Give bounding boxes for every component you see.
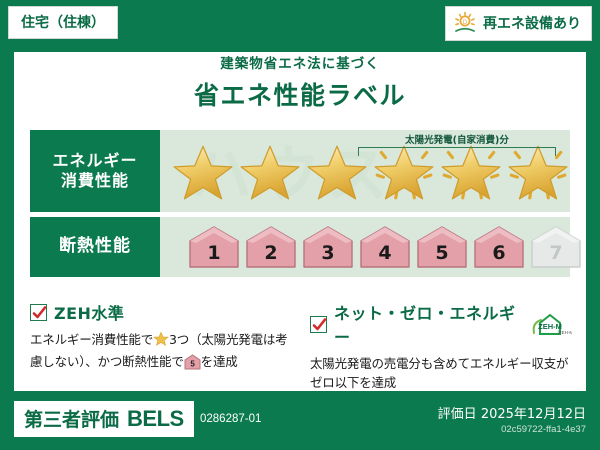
insulation-level-3: 3: [302, 225, 354, 269]
evaluation-hash: 02c59722-ffa1-4e37: [501, 424, 586, 435]
insulation-level-number: 5: [416, 242, 468, 264]
bels-jp-label: 第三者評価: [24, 405, 119, 432]
energy-performance-body: ハウス 太陽光発電(自家消費)分: [160, 130, 570, 212]
insulation-level-number: 3: [302, 242, 354, 264]
net-zero-title: ネット・ゼロ・エネルギー: [334, 300, 521, 348]
insulation-level-number: 4: [359, 242, 411, 264]
insulation-level-7: 7: [530, 225, 582, 269]
zeh-standard-section: ZEH水準 エネルギー消費性能で3つ（太陽光発電は考慮しない）、かつ断熱性能で5…: [30, 300, 292, 393]
insulation-level-6: 6: [473, 225, 525, 269]
zeh-standard-description: エネルギー消費性能で3つ（太陽光発電は考慮しない）、かつ断熱性能で5を達成: [30, 330, 292, 376]
star-icon: [170, 140, 235, 202]
net-zero-description: 太陽光発電の売電分も含めてエネルギー収支がゼロ以下を達成: [310, 354, 572, 393]
star-icon: [237, 140, 302, 202]
bels-logo-box: 第三者評価 BELS: [14, 401, 194, 437]
energy-label-line1: エネルギー: [52, 151, 137, 171]
bels-certificate-number: 0286287-01: [200, 413, 261, 425]
insulation-level-number: 1: [188, 242, 240, 264]
page-title: 省エネ性能ラベル: [0, 76, 600, 112]
insulation-level-number: 7: [530, 242, 582, 264]
insulation-level-5: 5: [416, 225, 468, 269]
zeh-standard-title: ZEH水準: [54, 300, 124, 324]
energy-performance-row: エネルギー 消費性能 ハウス 太陽光発電(自家消費)分: [30, 130, 570, 212]
zeh-standard-checkbox[interactable]: [30, 304, 47, 321]
zeh-standard-head: ZEH水準: [30, 300, 292, 324]
net-zero-energy-section: ネット・ゼロ・エネルギー ZEH-M [ZEH-M] 太陽光発電の売電分も含めて…: [310, 300, 572, 393]
title-block: 建築物省エネ法に基づく 省エネ性能ラベル: [0, 52, 600, 112]
insulation-performance-body: 1234567: [160, 217, 570, 277]
title-subtitle: 建築物省エネ法に基づく: [0, 52, 600, 72]
solar-bracket: 太陽光発電(自家消費)分: [350, 132, 564, 156]
energy-label-root: 住宅（住棟） D 再エネ設備あり 建築物省エネ法に基づく: [0, 0, 600, 450]
star-icon: [153, 331, 169, 352]
insulation-performance-label: 断熱性能: [30, 217, 160, 277]
zeh-m-logo: ZEH-M [ZEH-M]: [530, 311, 572, 337]
evaluation-date: 評価日 2025年12月12日: [438, 403, 586, 422]
zeh-desc-pre: エネルギー消費性能で: [30, 332, 153, 347]
svg-text:[ZEH-M]: [ZEH-M]: [558, 330, 572, 335]
ratings-block: エネルギー 消費性能 ハウス 太陽光発電(自家消費)分 断熱性能 1234567: [30, 130, 570, 277]
criteria-block: ZEH水準 エネルギー消費性能で3つ（太陽光発電は考慮しない）、かつ断熱性能で5…: [30, 300, 575, 393]
energy-performance-label: エネルギー 消費性能: [30, 130, 160, 212]
insulation-level-number: 6: [473, 242, 525, 264]
house-type-tag: 住宅（住棟）: [8, 6, 118, 39]
energy-label-line2: 消費性能: [61, 171, 129, 191]
insulation-level-group: 1234567: [188, 217, 570, 277]
evaluation-date-label: 評価日: [438, 407, 477, 422]
insulation-level-2: 2: [245, 225, 297, 269]
zeh-desc-post: を達成: [201, 354, 238, 369]
footer-bar: 第三者評価 BELS 0286287-01 評価日 2025年12月12日 02…: [0, 391, 600, 450]
sun-renewable-icon: D: [452, 11, 478, 35]
evaluation-date-value: 2025年12月12日: [481, 407, 586, 422]
solar-bracket-label: 太陽光発電(自家消費)分: [350, 132, 564, 146]
insulation-performance-row: 断熱性能 1234567: [30, 217, 570, 277]
net-zero-head: ネット・ゼロ・エネルギー ZEH-M [ZEH-M]: [310, 300, 572, 348]
solar-bracket-line: [358, 147, 556, 156]
insulation-level-number: 2: [245, 242, 297, 264]
insulation-level-1: 1: [188, 225, 240, 269]
bels-en-label: BELS: [127, 406, 184, 432]
net-zero-checkbox[interactable]: [310, 316, 327, 333]
svg-text:D: D: [463, 20, 468, 26]
renewable-badge-label: 再エネ設備あり: [483, 13, 581, 33]
renewable-equipment-badge: D 再エネ設備あり: [445, 6, 592, 41]
insulation-badge-inline: 5: [184, 354, 201, 375]
insulation-label-text: 断熱性能: [59, 236, 131, 257]
insulation-level-4: 4: [359, 225, 411, 269]
